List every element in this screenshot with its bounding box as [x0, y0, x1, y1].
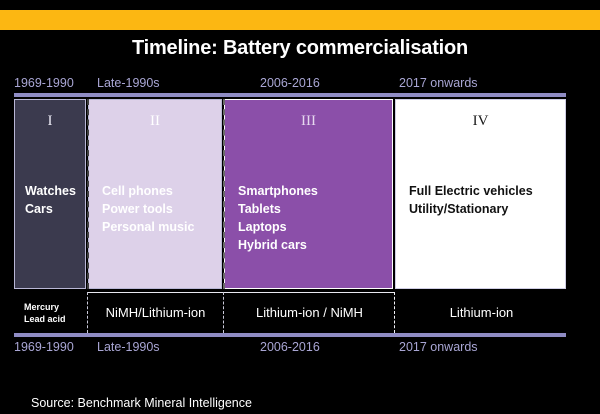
phase-numeral-1: I	[15, 114, 85, 129]
phase-numeral-4: IV	[396, 114, 565, 129]
year-label-bottom-period-4: 2017 onwards	[399, 340, 478, 354]
chemistry-row: Mercury Lead acid NiMH/Lithium-ion Lithi…	[14, 292, 566, 333]
phase-divider-2	[223, 99, 225, 289]
page-title: Timeline: Battery commercialisation	[0, 37, 600, 60]
top-accent-bar	[0, 10, 600, 30]
phase-item: Smartphones	[238, 182, 386, 200]
chemistry-divider-2	[223, 292, 224, 333]
year-label-period-3: 2006-2016	[260, 76, 320, 90]
source-attribution: Source: Benchmark Mineral Intelligence	[31, 396, 252, 410]
chemistry-cell-4: Lithium-ion	[397, 292, 566, 333]
phase-item: Laptops	[238, 218, 386, 236]
year-label-period-2: Late-1990s	[97, 76, 160, 90]
timeline-year-labels-top: 1969-1990 Late-1990s 2006-2016 2017 onwa…	[14, 76, 566, 94]
chemistry-line: Mercury	[24, 301, 66, 313]
phase-column-2: II Cell phones Power tools Personal musi…	[88, 99, 222, 289]
year-label-period-1: 1969-1990	[14, 76, 74, 90]
slide-root: Timeline: Battery commercialisation 1969…	[0, 0, 600, 414]
phase-item: Cell phones	[102, 182, 215, 200]
phase-item: Watches	[25, 182, 79, 200]
phase-item: Tablets	[238, 200, 386, 218]
phase-column-3: III Smartphones Tablets Laptops Hybrid c…	[224, 99, 393, 289]
chemistry-cell-3: Lithium-ion / NiMH	[226, 292, 393, 333]
timeline-year-labels-bottom: 1969-1990 Late-1990s 2006-2016 2017 onwa…	[14, 340, 566, 358]
phase-item: Power tools	[102, 200, 215, 218]
phase-item: Utility/Stationary	[409, 200, 559, 218]
phase-item: Cars	[25, 200, 79, 218]
chemistry-divider-1	[87, 292, 88, 333]
chemistry-cell-2: NiMH/Lithium-ion	[89, 292, 222, 333]
phase-items-4: Full Electric vehicles Utility/Stationar…	[409, 182, 559, 218]
phase-divider-1	[87, 99, 89, 289]
year-label-period-4: 2017 onwards	[399, 76, 478, 90]
phase-band: I Watches Cars II Cell phones Power tool…	[14, 99, 566, 289]
phase-numeral-3: III	[225, 114, 392, 129]
chemistry-cell-1: Mercury Lead acid	[14, 292, 87, 333]
timeline-rule-top	[14, 93, 566, 97]
phase-items-3: Smartphones Tablets Laptops Hybrid cars	[238, 182, 386, 254]
phase-items-2: Cell phones Power tools Personal music	[102, 182, 215, 236]
chemistry-divider-3	[394, 292, 395, 333]
phase-column-4: IV Full Electric vehicles Utility/Statio…	[395, 99, 566, 289]
timeline-rule-bottom	[14, 333, 566, 337]
phase-items-1: Watches Cars	[25, 182, 79, 218]
year-label-bottom-period-3: 2006-2016	[260, 340, 320, 354]
year-label-bottom-period-1: 1969-1990	[14, 340, 74, 354]
phase-item: Full Electric vehicles	[409, 182, 559, 200]
phase-item: Hybrid cars	[238, 236, 386, 254]
year-label-bottom-period-2: Late-1990s	[97, 340, 160, 354]
chemistry-line: Lead acid	[24, 313, 66, 325]
phase-numeral-2: II	[89, 114, 221, 129]
phase-item: Personal music	[102, 218, 215, 236]
phase-column-1: I Watches Cars	[14, 99, 86, 289]
